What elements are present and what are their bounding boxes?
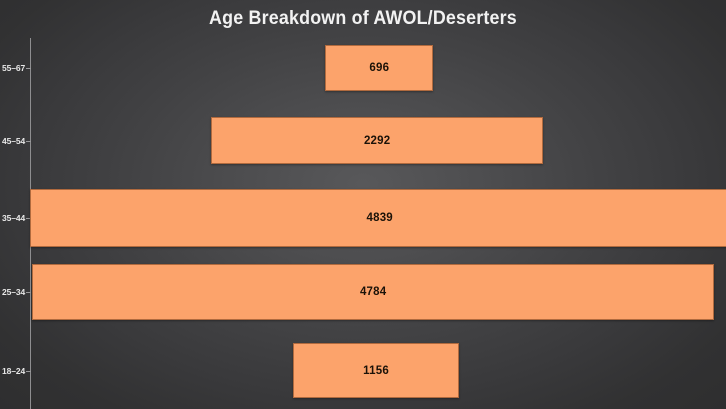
bar-row: 4839 [0, 189, 726, 247]
bar-row: 1156 [0, 343, 726, 398]
bar-row: 2292 [0, 117, 726, 164]
bar-55-67[interactable]: 696 [325, 45, 433, 91]
bar-value-label: 4839 [31, 212, 726, 224]
bar-45-54[interactable]: 2292 [211, 117, 543, 164]
chart-title: Age Breakdown of AWOL/Deserters [22, 6, 704, 32]
bar-value-label: 696 [326, 62, 432, 74]
bar-value-label: 4784 [33, 286, 713, 298]
bar-row: 4784 [0, 264, 726, 320]
bar-chart: Age Breakdown of AWOL/Deserters 55–6745–… [0, 0, 726, 409]
bar-35-44[interactable]: 4839 [30, 189, 726, 247]
bar-value-label: 1156 [294, 365, 458, 377]
bar-25-34[interactable]: 4784 [32, 264, 714, 320]
bar-row: 696 [0, 45, 726, 91]
bar-18-24[interactable]: 1156 [293, 343, 459, 398]
bar-value-label: 2292 [212, 135, 542, 147]
plot-area: 55–6745–5435–4425–3418–24 69622924839478… [0, 38, 726, 409]
